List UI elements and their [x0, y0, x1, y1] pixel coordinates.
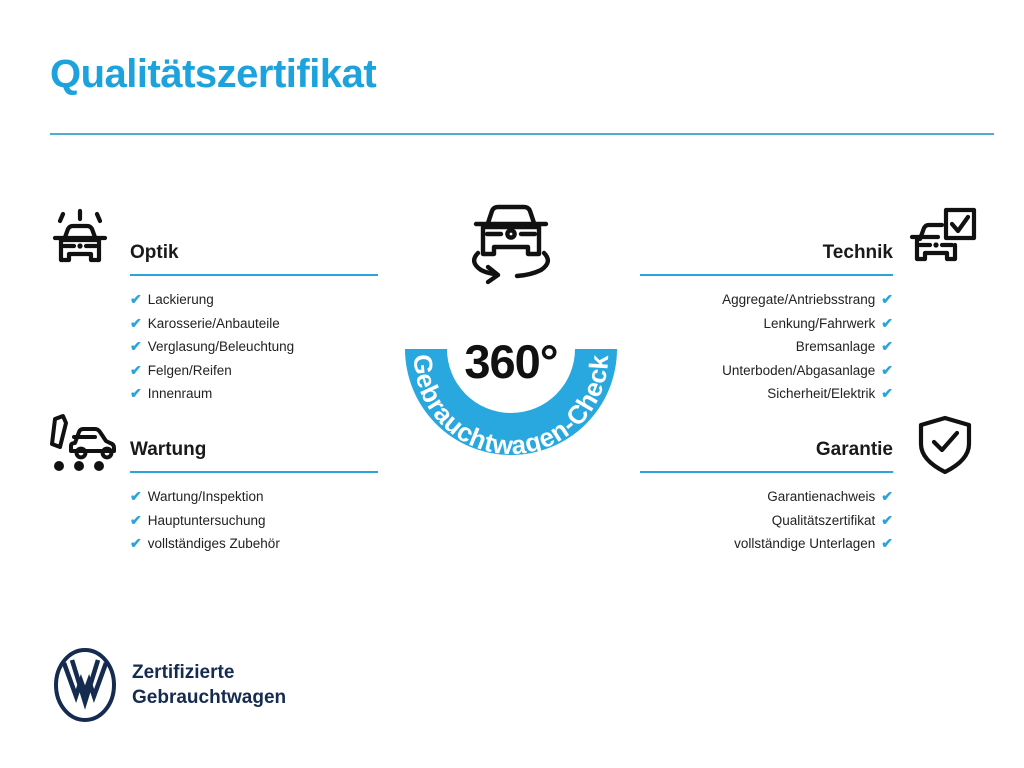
section-header: Technik	[640, 240, 893, 276]
wrench-car-service-icon	[47, 413, 119, 478]
list-item: Qualitätszertifikat✔	[640, 509, 893, 533]
list-item-label: Unterboden/Abgasanlage	[722, 363, 875, 378]
checklist: Aggregate/Antriebsstrang✔ Lenkung/Fahrwe…	[640, 288, 893, 406]
check-icon: ✔	[881, 535, 893, 551]
check-icon: ✔	[881, 291, 893, 307]
list-item: ✔Innenraum	[130, 382, 378, 406]
car-checkbox-icon	[908, 205, 978, 276]
section-underline	[130, 471, 378, 473]
list-item: Garantienachweis✔	[640, 485, 893, 509]
list-item: ✔Wartung/Inspektion	[130, 485, 378, 509]
list-item: Lenkung/Fahrwerk✔	[640, 312, 893, 336]
list-item-label: vollständige Unterlagen	[734, 536, 875, 551]
list-item-label: Hauptuntersuchung	[148, 513, 266, 528]
car-front-rotate-icon	[461, 196, 561, 288]
volkswagen-logo	[54, 648, 116, 722]
list-item-label: Lenkung/Fahrwerk	[763, 316, 875, 331]
check-icon: ✔	[881, 512, 893, 528]
section-title: Garantie	[640, 437, 893, 463]
check-icon: ✔	[130, 535, 142, 551]
list-item: Sicherheit/Elektrik✔	[640, 382, 893, 406]
section-wartung: Wartung ✔Wartung/Inspektion ✔Hauptunters…	[130, 437, 378, 556]
badge-360-check: Gebrauchtwagen-Check 360°	[378, 196, 644, 486]
list-item: ✔vollständiges Zubehör	[130, 532, 378, 556]
list-item-label: Qualitätszertifikat	[772, 513, 876, 528]
list-item: ✔Lackierung	[130, 288, 378, 312]
check-icon: ✔	[130, 338, 142, 354]
check-icon: ✔	[130, 315, 142, 331]
page-title: Qualitätszertifikat	[50, 52, 376, 96]
list-item: Bremsanlage✔	[640, 335, 893, 359]
check-icon: ✔	[881, 315, 893, 331]
section-underline	[130, 274, 378, 276]
list-item: vollständige Unterlagen✔	[640, 532, 893, 556]
section-header: Wartung	[130, 437, 378, 473]
section-garantie: Garantie Garantienachweis✔ Qualitätszert…	[640, 437, 893, 556]
list-item-label: Garantienachweis	[767, 489, 875, 504]
check-icon: ✔	[130, 488, 142, 504]
list-item-label: Innenraum	[148, 386, 213, 401]
footer-line-1: Zertifizierte	[132, 660, 286, 685]
checklist: Garantienachweis✔ Qualitätszertifikat✔ v…	[640, 485, 893, 556]
checklist: ✔Wartung/Inspektion ✔Hauptuntersuchung ✔…	[130, 485, 378, 556]
list-item-label: Sicherheit/Elektrik	[767, 386, 875, 401]
section-title: Wartung	[130, 437, 378, 463]
check-icon: ✔	[881, 385, 893, 401]
shield-check-icon	[917, 414, 973, 481]
section-header: Garantie	[640, 437, 893, 473]
list-item-label: Aggregate/Antriebsstrang	[722, 292, 875, 307]
list-item-label: Lackierung	[148, 292, 214, 307]
list-item: ✔Hauptuntersuchung	[130, 509, 378, 533]
section-underline	[640, 471, 893, 473]
list-item: ✔Felgen/Reifen	[130, 359, 378, 383]
footer-line-2: Gebrauchtwagen	[132, 685, 286, 710]
check-icon: ✔	[130, 385, 142, 401]
check-icon: ✔	[130, 362, 142, 378]
list-item-label: Verglasung/Beleuchtung	[148, 339, 294, 354]
check-icon: ✔	[881, 488, 893, 504]
list-item: ✔Verglasung/Beleuchtung	[130, 335, 378, 359]
list-item-label: Bremsanlage	[796, 339, 876, 354]
check-icon: ✔	[130, 512, 142, 528]
section-header: Optik	[130, 240, 378, 276]
footer-branding: Zertifizierte Gebrauchtwagen	[54, 648, 286, 722]
car-front-shine-icon	[47, 208, 113, 279]
check-icon: ✔	[881, 362, 893, 378]
list-item: Aggregate/Antriebsstrang✔	[640, 288, 893, 312]
badge-center-label: 360°	[378, 334, 644, 389]
checklist: ✔Lackierung ✔Karosserie/Anbauteile ✔Verg…	[130, 288, 378, 406]
footer-text: Zertifizierte Gebrauchtwagen	[132, 660, 286, 710]
header-divider	[50, 133, 994, 135]
check-icon: ✔	[881, 338, 893, 354]
list-item: Unterboden/Abgasanlage✔	[640, 359, 893, 383]
list-item: ✔Karosserie/Anbauteile	[130, 312, 378, 336]
section-title: Technik	[640, 240, 893, 266]
list-item-label: Felgen/Reifen	[148, 363, 232, 378]
section-title: Optik	[130, 240, 378, 266]
list-item-label: Karosserie/Anbauteile	[148, 316, 280, 331]
list-item-label: vollständiges Zubehör	[148, 536, 280, 551]
quality-certificate-page: Qualitätszertifikat	[0, 0, 1024, 768]
section-underline	[640, 274, 893, 276]
section-technik: Technik Aggregate/Antriebsstrang✔ Lenkun…	[640, 240, 893, 406]
section-optik: Optik ✔Lackierung ✔Karosserie/Anbauteile…	[130, 240, 378, 406]
list-item-label: Wartung/Inspektion	[148, 489, 264, 504]
check-icon: ✔	[130, 291, 142, 307]
